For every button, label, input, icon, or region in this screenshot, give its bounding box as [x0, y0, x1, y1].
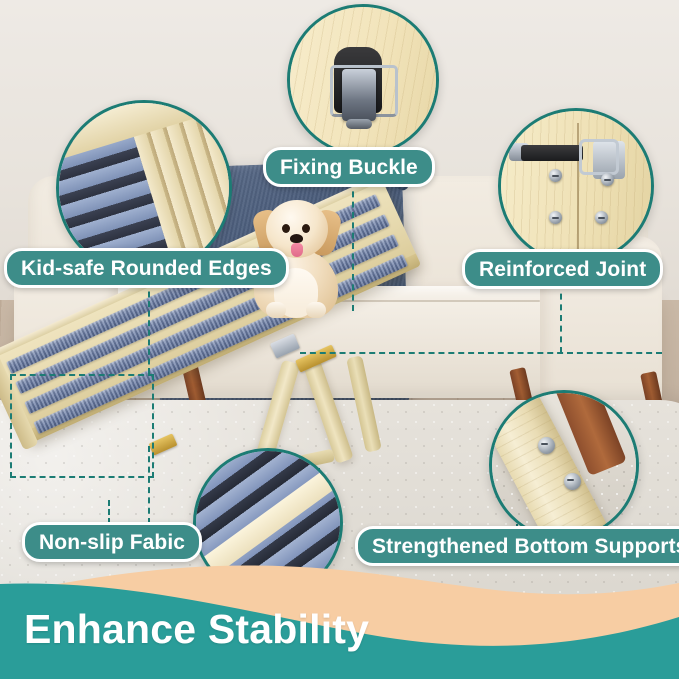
buckle-face-plate	[342, 69, 376, 121]
connector-edges-vertical	[148, 282, 150, 374]
dog-eye-left	[282, 224, 290, 233]
label-reinforced-joint: Reinforced Joint	[462, 249, 663, 289]
label-text: Reinforced Joint	[479, 259, 646, 280]
dog-paw-left	[266, 302, 286, 318]
bolt-icon	[538, 437, 555, 454]
banner-title: Enhance Stability	[24, 606, 369, 653]
bolt-icon	[564, 473, 581, 490]
screw-icon	[595, 211, 608, 224]
screw-icon	[549, 211, 562, 224]
buckle-pivot-pin	[346, 119, 372, 129]
dog-nose	[290, 234, 303, 243]
bottom-banner: Enhance Stability	[0, 555, 679, 679]
toggle-latch-screws-icon	[501, 111, 651, 261]
label-text: Strengthened Bottom Supports	[372, 536, 679, 557]
callout-image-fixing-buckle	[287, 4, 439, 156]
connector-edges-region	[10, 374, 154, 478]
ramp-hinge-buckle	[270, 333, 300, 358]
dog-eye-right	[302, 224, 310, 233]
connector-joint-horizontal	[300, 352, 662, 354]
callout-image-reinforced-joint	[498, 108, 654, 264]
connector-joint-vertical	[560, 283, 562, 353]
callout-image-strengthened-bottom-supports	[489, 390, 639, 540]
dog-paw-right	[306, 302, 326, 318]
latch-wire-hook	[579, 139, 619, 175]
label-text: Non-slip Fabic	[39, 532, 185, 553]
latch-lever	[521, 145, 583, 161]
connector-fabric-stem	[148, 446, 150, 524]
label-text: Kid-safe Rounded Edges	[21, 258, 272, 279]
screw-icon	[549, 169, 562, 182]
infographic-root: Kid-safe Rounded Edges Fixing Buckle Rei…	[0, 0, 679, 679]
screw-icon	[601, 173, 614, 186]
label-fixing-buckle: Fixing Buckle	[263, 147, 435, 187]
ramp-support-leg-c	[346, 355, 382, 452]
label-kid-safe-rounded-edges: Kid-safe Rounded Edges	[4, 248, 289, 288]
connector-buckle-vertical	[352, 181, 354, 311]
dog-tongue	[291, 243, 303, 257]
label-text: Fixing Buckle	[280, 157, 418, 178]
connector-fabric-vertical	[108, 500, 110, 524]
